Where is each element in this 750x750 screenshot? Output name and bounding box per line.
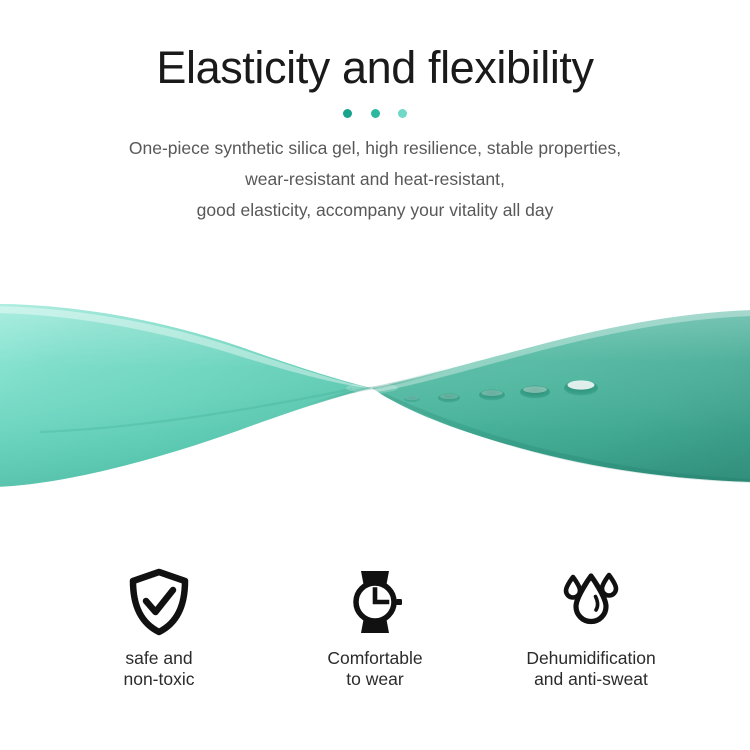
feature-safe-non-toxic: safe and non-toxic [51, 566, 267, 690]
twisted-band-illustration [0, 282, 750, 517]
subtitle-line-2: wear-resistant and heat-resistant, [55, 164, 695, 195]
feature-row: safe and non-toxic [0, 566, 750, 716]
subtitle-line-1: One-piece synthetic silica gel, high res… [55, 133, 695, 164]
wristwatch-icon [339, 566, 411, 638]
hole-2 [438, 394, 460, 403]
feature-label: safe and non-toxic [123, 648, 194, 690]
subtitle-line-3: good elasticity, accompany your vitality… [55, 195, 695, 226]
band-left-half [0, 304, 372, 487]
feature-label: Comfortable to wear [327, 648, 422, 690]
shield-check-icon [123, 566, 195, 638]
header-block: Elasticity and flexibility One-piece syn… [0, 0, 750, 226]
product-feature-page: Elasticity and flexibility One-piece syn… [0, 0, 750, 750]
dot-1-icon [343, 109, 352, 118]
feature-dehumidification: Dehumidification and anti-sweat [483, 566, 699, 690]
feature-label-line1: Dehumidification [526, 648, 655, 668]
band-right-half [372, 309, 750, 483]
dot-2-icon [371, 109, 380, 118]
decorative-dots [343, 109, 407, 119]
hole-4 [520, 386, 550, 399]
feature-label-line1: safe and [125, 648, 192, 668]
feature-label: Dehumidification and anti-sweat [526, 648, 655, 690]
feature-label-line1: Comfortable [327, 648, 422, 668]
feature-comfortable-to-wear: Comfortable to wear [267, 566, 483, 690]
hole-5 [564, 380, 598, 395]
page-title: Elasticity and flexibility [0, 0, 750, 93]
dot-3-icon [398, 109, 407, 118]
hole-3 [479, 390, 505, 401]
subtitle-text: One-piece synthetic silica gel, high res… [55, 133, 695, 226]
water-droplets-icon [555, 566, 627, 638]
feature-label-line2: to wear [327, 669, 422, 690]
feature-label-line2: and anti-sweat [526, 669, 655, 690]
product-image [0, 282, 750, 517]
hole-1 [404, 396, 420, 402]
feature-label-line2: non-toxic [123, 669, 194, 690]
